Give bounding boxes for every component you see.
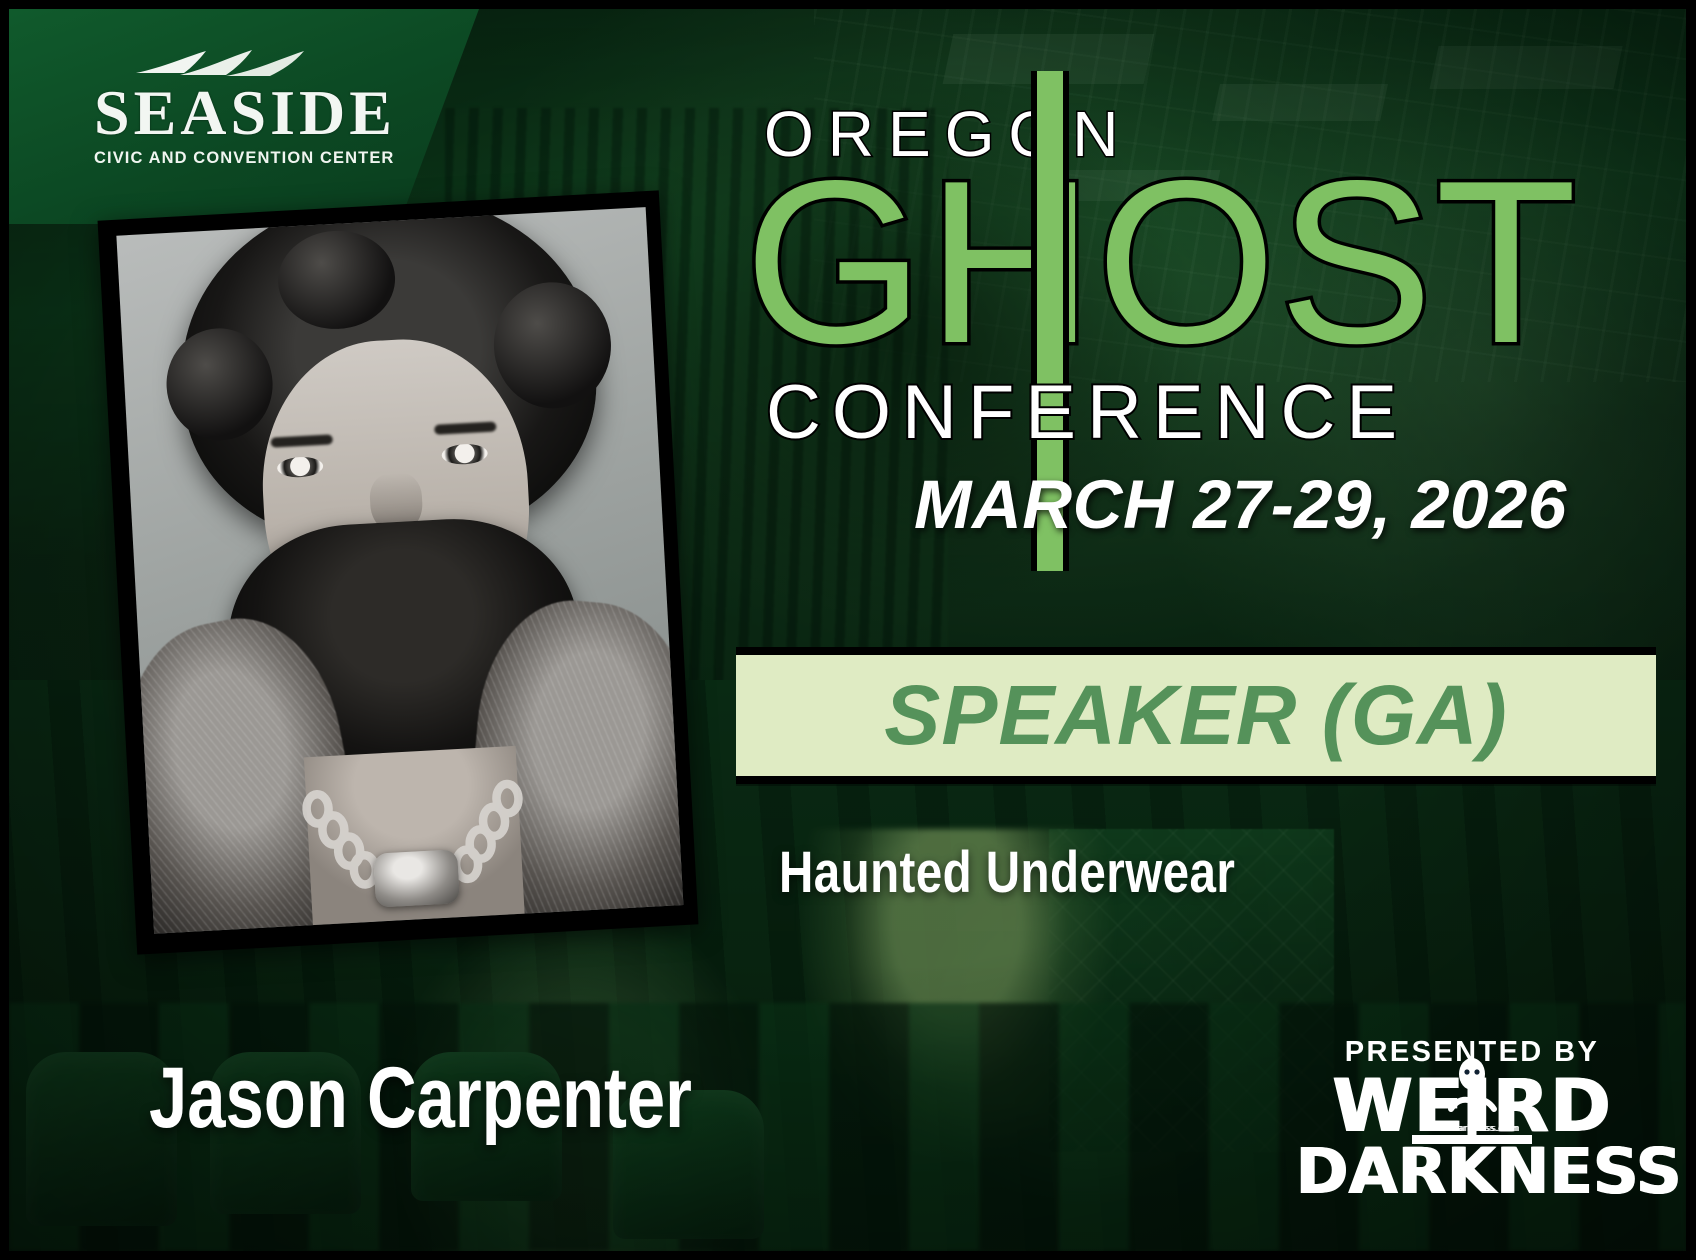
speaker-badge-label: SPEAKER (GA)	[884, 667, 1507, 764]
portrait-pendant	[373, 849, 460, 907]
poster-canvas: SEASIDE CIVIC AND CONVENTION CENTER	[9, 9, 1686, 1251]
event-dates: MARCH 27-29, 2026	[914, 465, 1567, 544]
event-line-ghost: GHOST	[744, 147, 1579, 379]
event-logo: OREGON GHOST CONFERENCE MARCH 27-29, 202…	[744, 87, 1644, 567]
sponsor-logo: PRESENTED BY WEIRD weirddarkness.com DAR…	[1296, 1036, 1648, 1201]
speaker-badge-banner: SPEAKER (GA)	[736, 647, 1656, 784]
seaside-logo: SEASIDE CIVIC AND CONVENTION CENTER	[94, 45, 364, 168]
venue-subtitle: CIVIC AND CONVENTION CENTER	[94, 149, 364, 168]
venue-name: SEASIDE	[94, 83, 364, 144]
speaker-name: Jason Carpenter	[149, 1049, 757, 1148]
sponsor-url: weirddarkness.com	[1425, 1125, 1519, 1133]
speaker-photo-frame	[98, 190, 699, 954]
event-line-conference: CONFERENCE	[766, 369, 1408, 456]
talk-title: Haunted Underwear	[779, 839, 1468, 906]
speaker-portrait	[116, 207, 683, 934]
poster-frame: SEASIDE CIVIC AND CONVENTION CENTER	[0, 0, 1696, 1260]
sponsor-name-darkness: DARKNESS	[1296, 1142, 1648, 1201]
sponsor-name-weird: WEIRD weirddarkness.com	[1296, 1073, 1648, 1142]
wave-icon	[134, 45, 324, 81]
